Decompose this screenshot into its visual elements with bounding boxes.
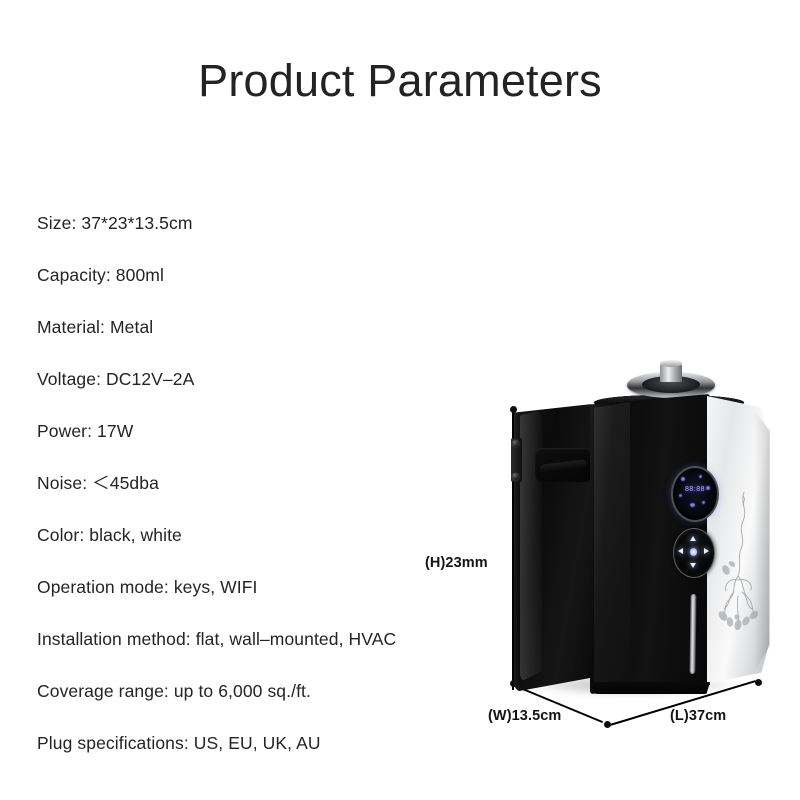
keypad-down-icon[interactable] <box>690 563 696 568</box>
nozzle-top-cap <box>660 360 682 367</box>
product-parameters-page: Product Parameters Size: 37*23*13.5cm Ca… <box>0 0 800 800</box>
bracket-screw-top <box>512 440 519 447</box>
page-title: Product Parameters <box>0 58 800 103</box>
spec-row-noise: Noise: ＜45dba <box>37 457 477 509</box>
specification-list: Size: 37*23*13.5cm Capacity: 800ml Mater… <box>37 197 477 769</box>
spec-row-capacity: Capacity: 800ml <box>37 249 477 301</box>
spec-row-power: Power: 17W <box>37 405 477 457</box>
fluid-level-window <box>689 594 696 674</box>
width-dimension-label: (W)13.5cm <box>488 708 561 724</box>
device-base-edge <box>592 682 710 694</box>
spec-row-color: Color: black, white <box>37 509 477 561</box>
product-figure: (H)23mm (W)13.5cm (L)37cm <box>480 340 800 760</box>
lcd-display[interactable]: 88:88 <box>671 466 719 522</box>
keypad-left-icon[interactable] <box>678 548 683 554</box>
spec-row-material: Material: Metal <box>37 301 477 353</box>
lcd-readout: 88:88 <box>673 486 717 493</box>
height-dimension-label: (H)23mm <box>425 555 488 571</box>
dimension-corner-dot <box>604 721 611 728</box>
keypad-up-icon[interactable] <box>690 536 696 541</box>
spec-row-plug-specifications: Plug specifications: US, EU, UK, AU <box>37 717 477 769</box>
spec-row-voltage: Voltage: DC12V–2A <box>37 353 477 405</box>
diffuser-device-image: 88:88 <box>508 376 768 676</box>
floral-filigree-decoration <box>714 488 768 638</box>
front-face-highlight <box>594 402 630 687</box>
spec-row-operation-mode: Operation mode: keys, WIFI <box>37 561 477 613</box>
length-dimension-dot-right <box>755 679 762 686</box>
bracket-screw-bottom <box>512 473 519 480</box>
spec-row-size: Size: 37*23*13.5cm <box>37 197 477 249</box>
spec-row-coverage-range: Coverage range: up to 6,000 sq./ft. <box>37 665 477 717</box>
keypad-right-icon[interactable] <box>704 548 709 554</box>
spec-row-installation-method: Installation method: flat, wall–mounted,… <box>37 613 477 665</box>
length-dimension-label: (L)37cm <box>670 708 726 724</box>
keypad-center-button[interactable] <box>690 548 697 556</box>
